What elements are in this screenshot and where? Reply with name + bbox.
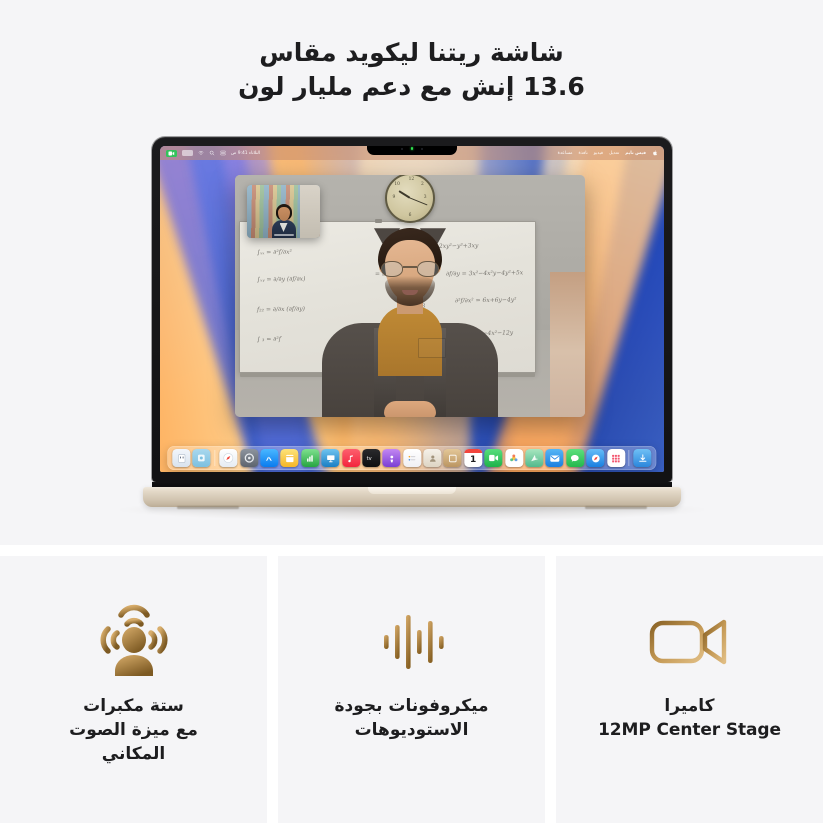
feature-card-speakers-label: ستة مكبرات مع ميزة الصوت المكاني [51, 694, 216, 766]
dock-app-contacts[interactable] [423, 449, 441, 467]
laptop-shadow [120, 505, 704, 521]
facetime-main-participant [322, 228, 498, 417]
calendar-day-number: 1 [470, 453, 476, 467]
laptop-lid: الثلاثاء 9:41 ص فيس تايم تعديل فيديو ناف… [152, 137, 672, 482]
dock-app-mail[interactable] [546, 449, 564, 467]
dock-app-downloads-stack[interactable] [634, 449, 652, 467]
dock-app-music[interactable] [342, 449, 360, 467]
facetime-window[interactable]: ∫ₓₓ = ∂²f/∂x² ∫ₓᵧ = ∂/∂y (∂f/∂x) f₂₂ = ∂… [235, 175, 585, 417]
control-center-icon[interactable] [220, 150, 226, 156]
dock-separator-2 [629, 450, 630, 466]
label-line: كاميرا [598, 694, 781, 718]
dock-app-podcasts[interactable] [383, 449, 401, 467]
headline-line-1: شاشة ريتنا ليكويد مقاس [0, 36, 823, 70]
apple-logo-icon[interactable] [652, 150, 658, 156]
eyeglasses-icon [381, 261, 439, 277]
feature-card-microphones-label: ميكروفونات بجودة الاستوديوهات [316, 694, 506, 742]
wall-clock-icon: 12 3 6 9 10 2 [385, 175, 435, 223]
label-line: ستة مكبرات [69, 694, 198, 718]
dock-separator [215, 450, 216, 466]
page-title: شاشة ريتنا ليكويد مقاس 13.6 إنش مع دعم م… [0, 36, 823, 104]
menubar-clock[interactable]: الثلاثاء 9:41 ص [231, 151, 260, 156]
dock-app-apple-tv[interactable]: tv [362, 449, 380, 467]
feature-cards: ستة مكبرات مع ميزة الصوت المكاني [0, 556, 823, 823]
dock-app-calendar[interactable]: 1 [464, 449, 482, 467]
label-line: الاستوديوهات [334, 718, 488, 742]
dock-app-launchpad[interactable] [193, 449, 211, 467]
menubar-menu-0[interactable]: تعديل [609, 151, 619, 156]
display-notch [367, 146, 457, 155]
feature-card-camera-label: كاميرا 12MP Center Stage [580, 694, 799, 742]
pip-drag-handle[interactable] [274, 234, 294, 236]
label-line: 12MP Center Stage [598, 718, 781, 742]
feature-card-speakers: ستة مكبرات مع ميزة الصوت المكاني [0, 556, 267, 823]
dock-app-app-store[interactable] [260, 449, 278, 467]
label-line: مع ميزة الصوت [69, 718, 198, 742]
facetime-pip-participant[interactable] [247, 185, 320, 238]
product-feature-page: شاشة ريتنا ليكويد مقاس 13.6 إنش مع دعم م… [0, 0, 823, 823]
macbook-air-image: الثلاثاء 9:41 ص فيس تايم تعديل فيديو ناف… [143, 137, 681, 509]
dock-app-notes[interactable] [281, 449, 299, 467]
dock-app-app-grid[interactable] [607, 449, 625, 467]
feature-card-microphones: ميكروفونات بجودة الاستوديوهات [278, 556, 545, 823]
dock-app-freeform[interactable] [444, 449, 462, 467]
menubar-menu-2[interactable]: نافذة [579, 151, 588, 156]
facetime-active-icon[interactable] [166, 150, 177, 157]
dock-app-numbers[interactable] [301, 449, 319, 467]
hero-section: شاشة ريتنا ليكويد مقاس 13.6 إنش مع دعم م… [0, 0, 823, 545]
headline-line-2: 13.6 إنش مع دعم مليار لون [0, 70, 823, 104]
menubar-menu-3[interactable]: مساعدة [558, 151, 573, 156]
spatial-audio-speakers-icon [94, 600, 174, 682]
laptop-screen: الثلاثاء 9:41 ص فيس تايم تعديل فيديو ناف… [160, 146, 664, 472]
dock-app-keynote[interactable] [321, 449, 339, 467]
battery-icon[interactable] [182, 150, 193, 156]
dock-app-messages[interactable] [566, 449, 584, 467]
menubar-app-name[interactable]: فيس تايم [625, 151, 646, 156]
dock-app-safari[interactable] [219, 449, 237, 467]
video-camera-icon [648, 600, 732, 682]
camera-in-use-led-icon [411, 147, 414, 150]
feature-card-camera: كاميرا 12MP Center Stage [556, 556, 823, 823]
ambient-sensor-icon [421, 148, 423, 150]
dock-app-facetime[interactable] [485, 449, 503, 467]
spotlight-search-icon[interactable] [209, 150, 215, 156]
dock-app-reminders[interactable] [403, 449, 421, 467]
svg-text:tv: tv [367, 456, 372, 462]
macos-dock[interactable]: tv [167, 446, 656, 470]
label-line: ميكروفونات بجودة [334, 694, 488, 718]
camera-icon [401, 148, 403, 150]
menubar-menu-1[interactable]: فيديو [594, 151, 603, 156]
dock-app-maps[interactable] [525, 449, 543, 467]
dock-app-safari-browser[interactable] [587, 449, 605, 467]
wifi-icon[interactable] [198, 150, 204, 156]
laptop-base [143, 487, 681, 507]
dock-app-system-settings[interactable] [240, 449, 258, 467]
microphone-waveform-icon [376, 600, 448, 682]
label-line: المكاني [69, 742, 198, 766]
dock-app-finder[interactable] [172, 449, 190, 467]
dock-app-photos[interactable] [505, 449, 523, 467]
